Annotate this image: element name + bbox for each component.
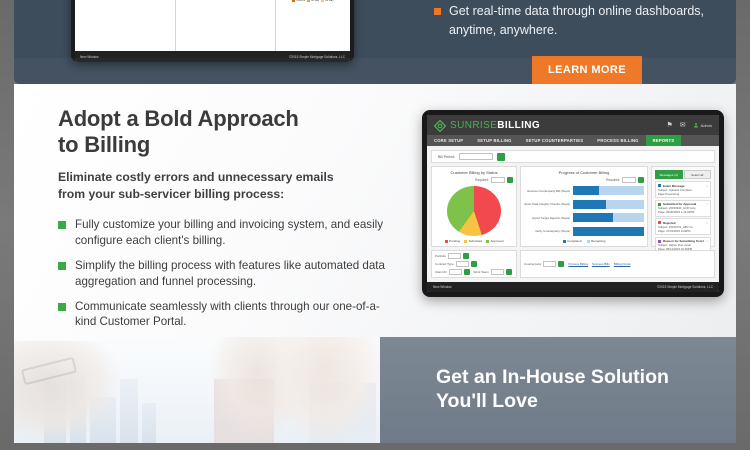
list-item: Simplify the billing process with featur… xyxy=(58,258,398,290)
filter-button[interactable] xyxy=(463,253,469,259)
mockup-body: Bill Period: Customer Billing by Status … xyxy=(427,146,719,282)
top-section: Last Status Change: 9/2/2015 6:15PM More… xyxy=(14,0,736,84)
filter-label: Contract Type xyxy=(435,262,454,266)
bar-filter-row: Required: xyxy=(524,177,644,183)
bullet-square-icon xyxy=(434,8,441,15)
bottom-headline-line-1: Get an In-House Solution xyxy=(436,366,669,388)
legend-item: Current xyxy=(292,0,305,2)
bottom-headline-line-2: You'll Love xyxy=(436,390,538,412)
filter-select[interactable] xyxy=(449,269,462,275)
flag-icon[interactable]: ⚑ xyxy=(667,121,673,129)
bar-track xyxy=(573,186,644,195)
bar-track xyxy=(573,227,644,236)
mockup-screen: SUNRISEBILLING ⚑ ✉ Admin CORE SETUP xyxy=(427,115,719,292)
bar-label: Import Target Reports (Steps) xyxy=(524,216,570,220)
bar-chart-title: Progress of Customer Billing xyxy=(524,170,644,175)
pie-filter-row: Required: xyxy=(435,177,513,183)
fragment-footer-left[interactable]: New Window xyxy=(80,55,99,59)
filter-label: Counterparty xyxy=(524,262,541,266)
legend-label: Completed xyxy=(567,239,582,243)
calendar-icon[interactable] xyxy=(497,153,505,161)
filter-work-team: Work Team xyxy=(474,269,512,275)
legend-label: Submitted xyxy=(469,239,483,243)
filter-label: Work Team xyxy=(474,270,489,274)
filter-select[interactable] xyxy=(543,261,556,267)
legend-item: 30 Day xyxy=(307,0,319,2)
legend-item: Remaining xyxy=(587,239,606,243)
bar-row: Receive Counterparty Bill (Steps) xyxy=(524,186,644,195)
note-title: Rejected xyxy=(663,221,676,225)
filter-counterparty: Counterparty xyxy=(524,261,564,267)
filter-portfolio: Portfolio xyxy=(435,253,469,259)
filter-button[interactable] xyxy=(464,269,470,275)
link-process-billing[interactable]: Process Billing xyxy=(568,262,588,266)
pie-legend: Pending Submitted Approved xyxy=(435,239,513,243)
legend-label: Pending xyxy=(449,239,460,243)
side-panel-tabs: Messages (4) Select all xyxy=(655,170,711,179)
list-item: Communicate seamlessly with clients thro… xyxy=(58,299,398,331)
filter-label: Client ID xyxy=(435,270,447,274)
filter-button[interactable] xyxy=(506,269,512,275)
legend-item: Completed xyxy=(563,239,582,243)
bar-track xyxy=(573,213,644,222)
bar-chart-panel: Progress of Customer Billing Required: R… xyxy=(520,166,648,247)
subhead-line-1: Eliminate costly errors and unnecessary … xyxy=(58,170,334,184)
subheadline: Eliminate costly errors and unnecessary … xyxy=(58,169,398,204)
bar-label: Enter Data Integrity Checks (Steps) xyxy=(524,202,570,206)
mockup-filter-row: Portfolio Contract Type Client ID Work T… xyxy=(431,250,715,278)
bottom-headline: Get an In-House Solution You'll Love xyxy=(436,366,669,414)
progress-bar-chart: Receive Counterparty Bill (Steps) Enter … xyxy=(524,185,644,237)
filter-label: Portfolio xyxy=(435,254,446,258)
bar-filter-select[interactable] xyxy=(622,177,636,183)
legend-label: Approved xyxy=(491,239,504,243)
feature-bullet-list: Fully customize your billing and invoici… xyxy=(58,217,398,331)
mockup-footer: New Window ©2015 Simple Mortgage Solutio… xyxy=(427,282,719,292)
header-icon-group: ⚑ ✉ Admin xyxy=(667,121,713,129)
close-icon[interactable]: × xyxy=(706,202,708,206)
list-item[interactable]: Rejected× Subject: 20150701_ABC Co. Page… xyxy=(655,218,711,235)
tab-setup-counterparties[interactable]: SETUP COUNTERPARTIES xyxy=(519,135,591,146)
user-icon xyxy=(693,122,699,128)
mockup-panel-row: Customer Billing by Status Required: Pen… xyxy=(431,166,715,247)
logo-text: SUNRISEBILLING xyxy=(450,120,540,131)
link-billing-portal[interactable]: Billing Portal xyxy=(614,262,631,266)
tab-setup-billing[interactable]: SETUP BILLING xyxy=(470,135,518,146)
legend-label: Remaining xyxy=(591,239,605,243)
customer-billing-pie-chart xyxy=(447,186,501,236)
tab-select-all[interactable]: Select all xyxy=(684,170,712,179)
fragment-footer: New Window ©2015 Simple Mortgage Solutio… xyxy=(75,51,350,62)
filter-select[interactable] xyxy=(456,261,469,267)
bottom-copy-block: Get an In-House Solution You'll Love xyxy=(380,337,736,443)
bar-row: Import Target Reports (Steps) xyxy=(524,213,644,222)
close-icon[interactable]: × xyxy=(706,184,708,188)
bar-row: Enter Data Integrity Checks (Steps) xyxy=(524,200,644,209)
subhead-line-2: from your sub-servicer billing process: xyxy=(58,187,284,201)
legend-label: 30 Day xyxy=(311,0,319,2)
legend-label: 60 Day xyxy=(325,0,333,2)
page-title: Adopt a Bold Approach to Billing xyxy=(58,106,398,158)
headline-line-2: to Billing xyxy=(58,132,150,157)
bar-row: Verify Counterparty (Steps) xyxy=(524,227,644,236)
messages-side-panel: Messages (4) Select all Exam Message× Su… xyxy=(651,166,715,247)
pie-filter-select[interactable] xyxy=(491,177,505,183)
bar-track xyxy=(573,200,644,209)
filter-select[interactable] xyxy=(448,253,461,259)
right-filter-box: Counterparty Process Billing Success Bil… xyxy=(520,250,715,278)
note-line: Page Processing xyxy=(658,192,708,196)
list-item: Fully customize your billing and invoici… xyxy=(58,217,398,249)
mockup-footer-left[interactable]: New Window xyxy=(433,285,452,289)
filter-client-id: Client ID xyxy=(435,269,470,275)
top-bullet-item: Get real-time data through online dashbo… xyxy=(434,0,734,40)
legend-item: Pending xyxy=(445,239,461,243)
logo-text-b: BILLING xyxy=(497,120,540,131)
mockup-footer-right: ©2015 Simple Mortgage Solutions, LLC xyxy=(657,285,713,289)
tab-reports[interactable]: REPORTS xyxy=(646,135,682,146)
headline-line-1: Adopt a Bold Approach xyxy=(58,106,299,131)
filter-button[interactable] xyxy=(558,261,564,267)
middle-section: Adopt a Bold Approach to Billing Elimina… xyxy=(14,84,736,337)
user-menu[interactable]: Admin xyxy=(693,122,712,128)
app-screenshot-mockup: SUNRISEBILLING ⚑ ✉ Admin CORE SETUP xyxy=(422,110,724,297)
bullet-square-icon xyxy=(58,303,66,311)
bullet-text: Fully customize your billing and invoici… xyxy=(75,217,398,249)
filter-select[interactable] xyxy=(491,269,504,275)
link-success-bills[interactable]: Success Bills xyxy=(592,262,610,266)
bill-period-label: Bill Period: xyxy=(438,155,455,159)
mockup-header: SUNRISEBILLING ⚑ ✉ Admin xyxy=(427,115,719,135)
bar-filter-button[interactable] xyxy=(638,177,644,183)
bullet-square-icon xyxy=(58,262,66,270)
user-name-label: Admin xyxy=(701,123,712,128)
bullet-text: Simplify the billing process with featur… xyxy=(75,258,398,290)
fragment-screen: Last Status Change: 9/2/2015 6:15PM More… xyxy=(75,0,350,62)
top-learn-more-button[interactable]: LEARN MORE xyxy=(532,56,642,84)
main-copy-block: Adopt a Bold Approach to Billing Elimina… xyxy=(58,106,398,374)
list-item[interactable]: Exam Message× Subject: Uploads Complete … xyxy=(655,181,711,198)
legend-item: 60 Day xyxy=(321,0,333,2)
bill-period-input[interactable] xyxy=(459,153,493,160)
tab-process-billing[interactable]: PROCESS BILLING xyxy=(590,135,645,146)
logo-text-a: SUNRISE xyxy=(450,120,497,131)
mockup-nav-bar: CORE SETUP SETUP BILLING SETUP COUNTERPA… xyxy=(427,135,719,146)
legend-item: Submitted xyxy=(464,239,482,243)
left-filter-box: Portfolio Contract Type Client ID Work T… xyxy=(431,250,517,278)
page-root: Last Status Change: 9/2/2015 6:15PM More… xyxy=(0,0,750,450)
legend-item: Approved xyxy=(486,239,503,243)
fragment-footer-right: ©2015 Simple Mortgage Solutions, LLC xyxy=(289,55,345,59)
filter-button[interactable] xyxy=(471,261,477,267)
filter-contract-type: Contract Type xyxy=(435,261,477,267)
pie-chart-panel: Customer Billing by Status Required: Pen… xyxy=(431,166,517,247)
pie-filter-label: Required: xyxy=(475,178,489,182)
bar-label: Receive Counterparty Bill (Steps) xyxy=(524,189,570,193)
mail-icon[interactable]: ✉ xyxy=(680,121,686,129)
pie-chart-title: Customer Billing by Status xyxy=(435,170,513,175)
pie-filter-button[interactable] xyxy=(507,177,513,183)
close-icon[interactable]: × xyxy=(706,221,708,225)
note-line: Page: 07/01/2015 9:22PM xyxy=(658,229,708,233)
list-item[interactable]: Submitted for Approval× Subject: 2015093… xyxy=(655,200,711,217)
mockup-toolbar: Bill Period: xyxy=(431,150,715,163)
app-logo[interactable]: SUNRISEBILLING xyxy=(434,119,540,131)
business-team-photo xyxy=(14,337,380,443)
tab-core-setup[interactable]: CORE SETUP xyxy=(427,135,470,146)
screenshot-fragment-top: Last Status Change: 9/2/2015 6:15PM More… xyxy=(71,0,354,62)
top-bullet-text: Get real-time data through online dashbo… xyxy=(449,2,734,40)
bar-filter-label: Required: xyxy=(606,178,620,182)
bullet-text: Communicate seamlessly with clients thro… xyxy=(75,299,398,331)
bar-label: Verify Counterparty (Steps) xyxy=(524,229,570,233)
bar-legend: Completed Remaining xyxy=(524,239,644,243)
bullet-square-icon xyxy=(58,221,66,229)
close-icon[interactable]: × xyxy=(706,239,708,243)
top-copy-block: Get real-time data through online dashbo… xyxy=(434,0,734,84)
tab-messages[interactable]: Messages (4) xyxy=(655,170,683,179)
note-title: Exam Message xyxy=(663,184,685,188)
legend-label: Current xyxy=(296,0,305,2)
donut-legend: Current 30 Day 60 Day xyxy=(292,0,333,2)
note-line: Page: 09/30/2015 1:14:16PM xyxy=(658,210,708,214)
sunrise-logo-icon xyxy=(434,119,446,131)
bottom-section: Get an In-House Solution You'll Love xyxy=(14,337,736,443)
